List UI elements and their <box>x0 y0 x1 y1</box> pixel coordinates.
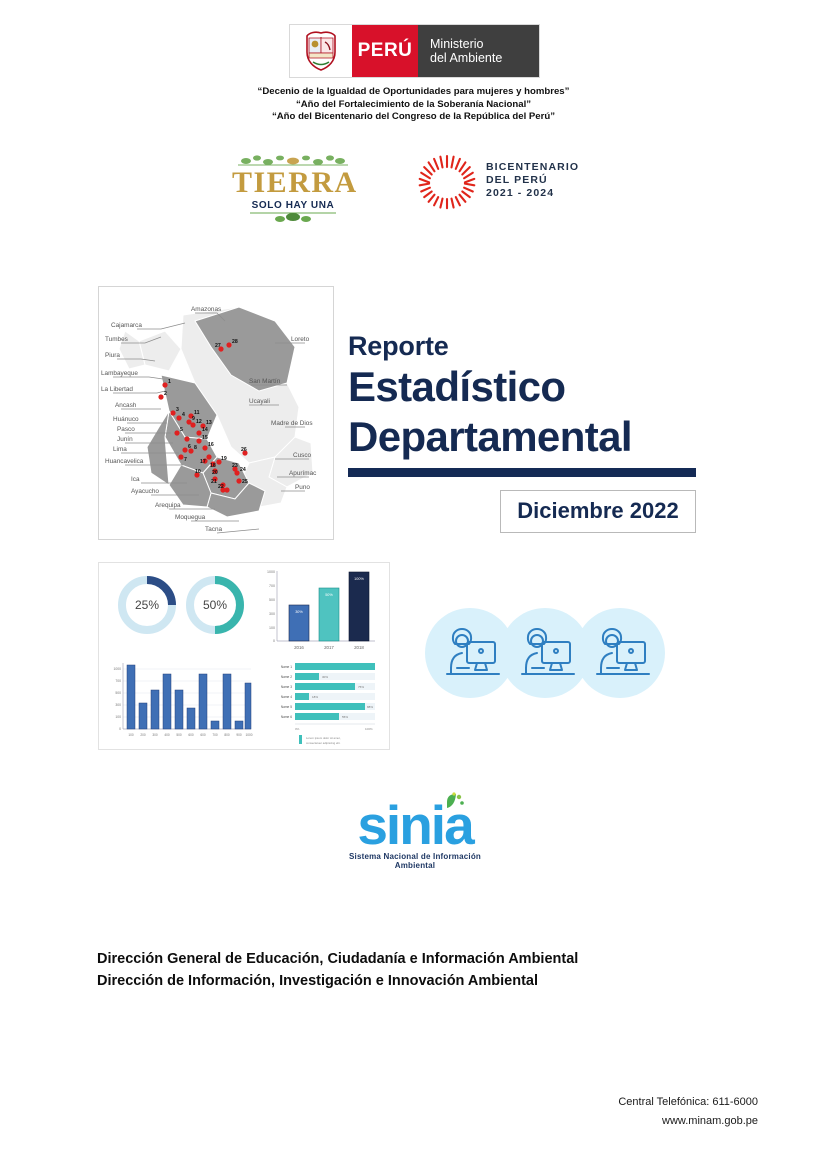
svg-text:Ucayali: Ucayali <box>249 398 270 405</box>
svg-text:2: 2 <box>164 391 167 397</box>
svg-text:900: 900 <box>236 733 242 737</box>
svg-text:16: 16 <box>208 442 214 448</box>
tierra-wordmark: TIERRA <box>232 168 354 198</box>
svg-text:12: 12 <box>196 419 202 425</box>
svg-text:700: 700 <box>115 679 121 683</box>
directorate-line-1: Dirección General de Educación, Ciudadan… <box>97 948 578 970</box>
title-pre: Reporte <box>348 330 700 362</box>
svg-text:55%: 55% <box>342 715 348 719</box>
directorate-line-2: Dirección de Información, Investigación … <box>97 970 578 992</box>
svg-text:500: 500 <box>115 691 121 695</box>
svg-text:14: 14 <box>202 427 208 433</box>
svg-text:6: 6 <box>188 444 191 450</box>
svg-text:300: 300 <box>269 612 275 616</box>
svg-text:20: 20 <box>212 470 218 476</box>
bar-chart-horizontal: Name 1Name 2 Name 3Name 4 Name 5Name 6 3… <box>281 663 375 745</box>
svg-text:5: 5 <box>180 427 183 433</box>
svg-text:22: 22 <box>218 484 224 490</box>
svg-text:18%: 18% <box>312 695 318 699</box>
svg-text:25: 25 <box>242 479 248 485</box>
cover-title-block: Reporte Estadístico Departamental Diciem… <box>348 330 700 533</box>
sinia-tagline: Sistema Nacional de Información Ambienta… <box>333 852 497 870</box>
svg-text:600: 600 <box>188 733 194 737</box>
svg-text:Name 5: Name 5 <box>281 705 292 709</box>
svg-text:10: 10 <box>195 469 201 475</box>
svg-text:800: 800 <box>224 733 230 737</box>
svg-text:1000: 1000 <box>113 667 121 671</box>
svg-text:Apurímac: Apurímac <box>289 470 317 477</box>
donut-chart-50: 50% <box>190 580 240 630</box>
svg-text:1: 1 <box>168 379 171 385</box>
svg-text:Huánuco: Huánuco <box>113 416 139 423</box>
svg-text:26: 26 <box>241 447 247 453</box>
svg-text:27: 27 <box>215 343 221 349</box>
svg-text:Tumbes: Tumbes <box>105 336 128 343</box>
svg-text:2018: 2018 <box>354 645 364 650</box>
sinia-wordmark: sinia <box>333 796 497 854</box>
svg-text:1000: 1000 <box>267 570 275 574</box>
svg-text:4: 4 <box>182 412 185 418</box>
svg-text:0: 0 <box>119 727 121 731</box>
bar-chart-years: 1000700 500300 1000 30%50%100% 201620172… <box>267 570 375 650</box>
svg-text:18: 18 <box>210 463 216 469</box>
footer-website[interactable]: www.minam.gob.pe <box>618 1112 758 1131</box>
report-date-box: Diciembre 2022 <box>500 490 696 533</box>
svg-text:400: 400 <box>164 733 170 737</box>
ministry-line-1: Ministerio <box>430 37 539 52</box>
svg-text:8: 8 <box>194 445 197 451</box>
footer-phone: Central Telefónica: 611-6000 <box>618 1093 758 1112</box>
title-underline-rule <box>348 468 696 477</box>
svg-text:Loreto: Loreto <box>291 336 310 343</box>
svg-text:0: 0 <box>273 639 275 643</box>
svg-text:500: 500 <box>269 598 275 602</box>
svg-text:Moquegua: Moquegua <box>175 514 206 521</box>
svg-text:Puno: Puno <box>295 484 310 491</box>
footer-contact: Central Telefónica: 611-6000 www.minam.g… <box>618 1093 758 1131</box>
ministry-line-2: del Ambiente <box>430 51 539 66</box>
svg-text:Tacna: Tacna <box>205 526 222 533</box>
svg-text:300: 300 <box>115 703 121 707</box>
svg-text:17: 17 <box>200 459 206 465</box>
svg-text:Junín: Junín <box>117 436 133 443</box>
bicentenario-text: BICENTENARIO DEL PERÚ 2021 - 2024 <box>486 161 579 200</box>
svg-text:30%: 30% <box>295 610 303 614</box>
svg-text:28: 28 <box>232 339 238 345</box>
svg-text:15: 15 <box>202 435 208 441</box>
svg-text:13: 13 <box>206 420 212 426</box>
svg-text:Lambayeque: Lambayeque <box>101 370 138 377</box>
report-cover-page: PERÚ Ministerio del Ambiente “Decenio de… <box>0 0 827 1169</box>
svg-text:Amazonas: Amazonas <box>191 306 221 313</box>
report-date-text: Diciembre 2022 <box>517 498 678 523</box>
svg-text:100: 100 <box>115 715 121 719</box>
svg-text:500: 500 <box>176 733 182 737</box>
svg-text:2017: 2017 <box>324 645 334 650</box>
svg-text:75%: 75% <box>358 685 364 689</box>
infographic-graphic: 25% 50% 1000700 500300 1000 <box>99 563 387 747</box>
svg-text:0%: 0% <box>295 727 300 731</box>
svg-text:100: 100 <box>269 626 275 630</box>
svg-text:La Libertad: La Libertad <box>101 386 133 393</box>
title-main-line-1: Estadístico <box>348 362 700 412</box>
svg-text:1000: 1000 <box>245 733 252 737</box>
svg-text:consectetuer adipiscing elit.: consectetuer adipiscing elit. <box>306 741 341 745</box>
statistics-infographic-collage: 25% 50% 1000700 500300 1000 <box>98 562 390 750</box>
svg-text:Madre de Dios: Madre de Dios <box>271 420 313 427</box>
slogan-line-2: “Año del Fortalecimiento de la Soberanía… <box>0 99 827 112</box>
svg-text:700: 700 <box>212 733 218 737</box>
svg-text:Piura: Piura <box>105 352 120 359</box>
svg-text:11: 11 <box>194 410 200 416</box>
bicentenario-line-2: DEL PERÚ <box>486 174 579 187</box>
title-main-line-2: Departamental <box>348 412 700 462</box>
svg-text:600: 600 <box>200 733 206 737</box>
svg-text:100%: 100% <box>354 577 364 581</box>
svg-text:Name 1: Name 1 <box>281 665 292 669</box>
svg-text:200: 200 <box>140 733 146 737</box>
svg-text:Name 6: Name 6 <box>281 715 292 719</box>
svg-text:24: 24 <box>240 467 246 473</box>
slogan-line-1: “Decenio de la Igualdad de Oportunidades… <box>0 86 827 99</box>
bicentenario-line-3: 2021 - 2024 <box>486 187 579 200</box>
svg-text:Cajamarca: Cajamarca <box>111 322 142 329</box>
svg-text:Ancash: Ancash <box>115 402 137 409</box>
svg-text:50%: 50% <box>203 598 227 612</box>
people-at-computer-icons <box>425 604 665 702</box>
svg-text:Name 4: Name 4 <box>281 695 292 699</box>
svg-text:88%: 88% <box>367 705 373 709</box>
svg-text:Arequipa: Arequipa <box>155 502 181 509</box>
svg-text:Cusco: Cusco <box>293 452 312 459</box>
peru-label: PERÚ <box>352 25 418 77</box>
peru-coat-of-arms-icon <box>290 25 352 77</box>
svg-text:Ica: Ica <box>131 476 140 483</box>
minam-header-logo: PERÚ Ministerio del Ambiente <box>289 24 540 78</box>
directorate-block: Dirección General de Educación, Ciudadan… <box>97 948 578 992</box>
svg-text:300: 300 <box>152 733 158 737</box>
svg-text:2016: 2016 <box>294 645 304 650</box>
svg-text:100: 100 <box>128 733 134 737</box>
official-slogan: “Decenio de la Igualdad de Oportunidades… <box>0 86 827 124</box>
sinia-logo: sinia Sistema Nacional de Información Am… <box>333 792 497 868</box>
svg-text:Pasco: Pasco <box>117 426 135 433</box>
tierra-solo-hay-una-logo: TIERRA SOLO HAY UNA <box>232 152 354 220</box>
svg-text:23: 23 <box>232 463 238 469</box>
svg-text:Ayacucho: Ayacucho <box>131 488 159 495</box>
donut-chart-25: 25% <box>122 580 172 630</box>
bar-chart-columns: 1000700 500300 1000 <box>113 663 252 737</box>
peru-text: PERÚ <box>358 40 413 62</box>
svg-text:21: 21 <box>211 479 217 485</box>
ministry-label: Ministerio del Ambiente <box>418 25 539 77</box>
svg-text:Lorem ipsum dolor sit amet,: Lorem ipsum dolor sit amet, <box>306 736 341 740</box>
map-graphic: Amazonas Cajamarca Tumbes Piura Lambayeq… <box>99 287 331 537</box>
bicentenario-logo: BICENTENARIO DEL PERÚ 2021 - 2024 <box>418 152 594 214</box>
svg-text:Name 3: Name 3 <box>281 685 292 689</box>
leaf-decoration-bottom-icon <box>232 210 354 226</box>
svg-text:25%: 25% <box>135 598 159 612</box>
svg-text:19: 19 <box>221 456 227 462</box>
svg-text:Huancavelica: Huancavelica <box>105 458 144 465</box>
people-icons-graphic <box>425 604 665 702</box>
bicentenario-sunburst-icon <box>418 154 476 212</box>
bicentenario-line-1: BICENTENARIO <box>486 161 579 174</box>
slogan-line-3: “Año del Bicentenario del Congreso de la… <box>0 111 827 124</box>
svg-text:Lima: Lima <box>113 446 127 453</box>
svg-text:100%: 100% <box>365 727 373 731</box>
peru-department-map: Amazonas Cajamarca Tumbes Piura Lambayeq… <box>98 286 334 540</box>
svg-text:7: 7 <box>184 457 187 463</box>
svg-text:30%: 30% <box>322 675 328 679</box>
svg-text:3: 3 <box>176 407 179 413</box>
svg-text:9: 9 <box>192 416 195 422</box>
sinia-leaf-icon <box>437 792 467 818</box>
svg-text:Name 2: Name 2 <box>281 675 292 679</box>
svg-text:San Martín: San Martín <box>249 378 281 385</box>
svg-text:700: 700 <box>269 584 275 588</box>
svg-text:50%: 50% <box>325 593 333 597</box>
